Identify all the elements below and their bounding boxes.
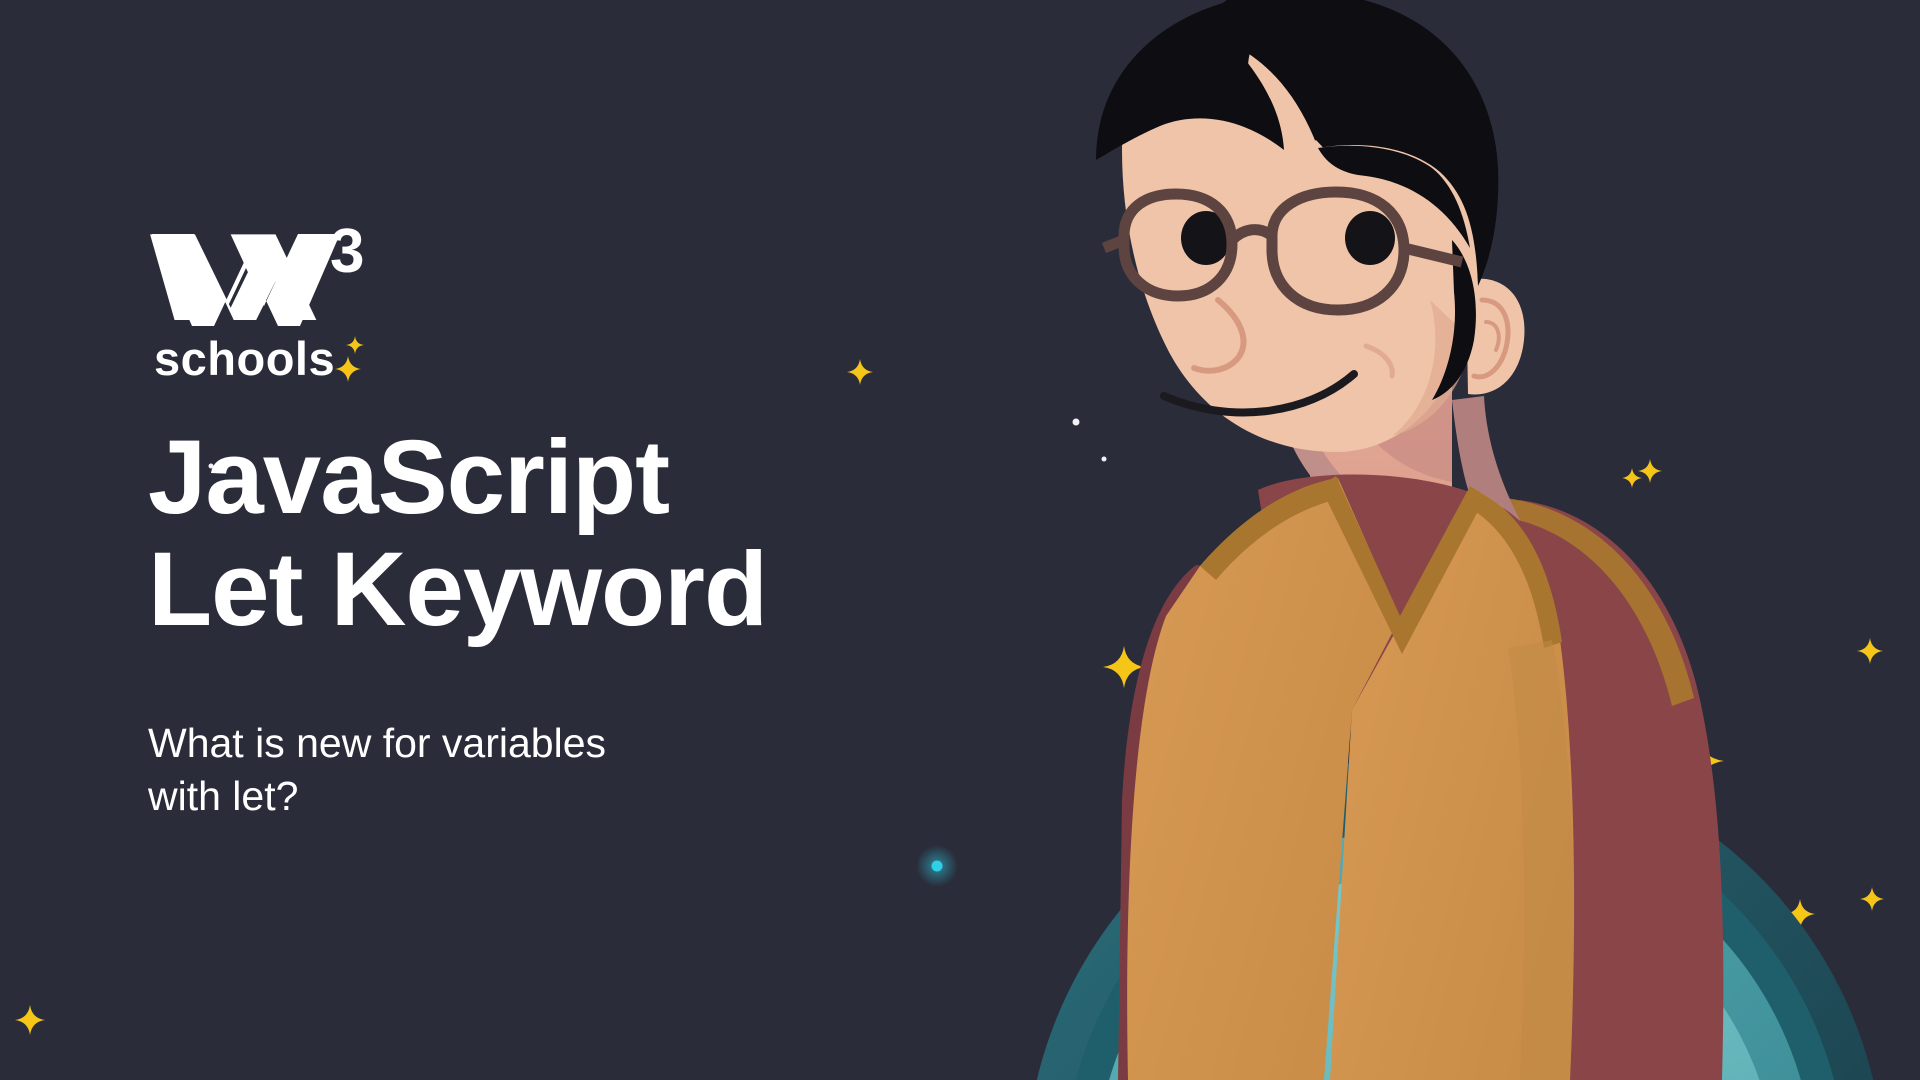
page-title: JavaScript Let Keyword [148,422,968,647]
slide-canvas: 3 schools JavaScript Let Keyword What is… [0,0,1920,1080]
w3schools-logo[interactable]: 3 schools [148,222,378,402]
right-eye [1345,211,1395,265]
character-illustration [1000,0,1920,1080]
logo-wordmark: schools [154,335,335,382]
character-head [1096,0,1524,452]
star-sparkle-icon [15,1005,45,1035]
w3-logo-mark: 3 [148,222,378,334]
text-block: 3 schools JavaScript Let Keyword What is… [148,222,968,863]
sparkle-icon [344,334,366,356]
svg-text:3: 3 [330,222,364,286]
page-subtitle: What is new for variables with let? [148,717,968,822]
